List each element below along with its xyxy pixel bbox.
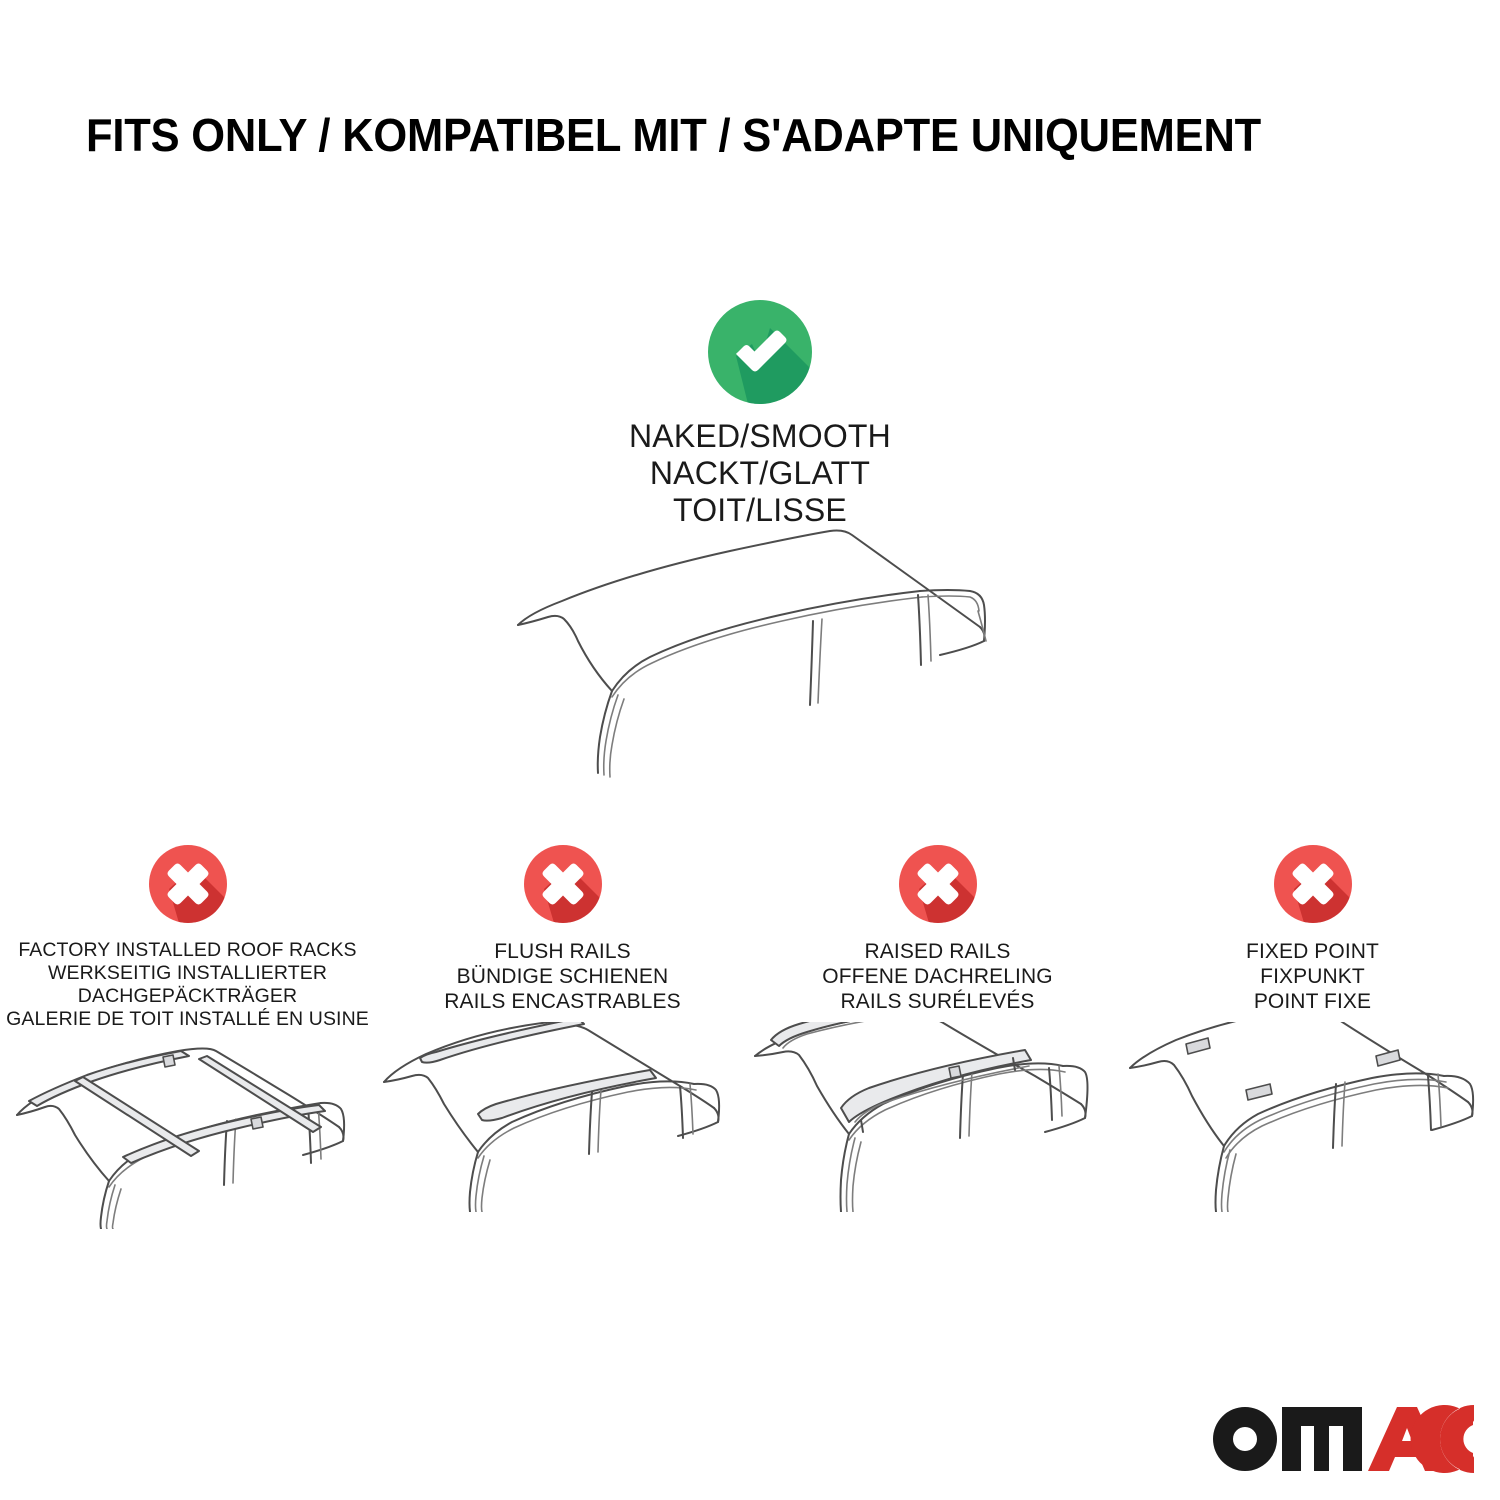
x-icon bbox=[1274, 845, 1352, 923]
label-line-1: FACTORY INSTALLED ROOF RACKS bbox=[6, 939, 369, 962]
factory-roof-rack-illustration bbox=[3, 1039, 373, 1229]
omac-letter-o bbox=[1213, 1407, 1277, 1471]
not-fits-label-raised-rails: RAISED RAILS OFFENE DACHRELING RAILS SUR… bbox=[822, 939, 1052, 1014]
check-badge-wrap bbox=[500, 300, 1020, 404]
label-line-2: OFFENE DACHRELING bbox=[822, 964, 1052, 989]
not-fits-row: FACTORY INSTALLED ROOF RACKS WERKSEITIG … bbox=[0, 845, 1500, 1229]
label-line-2: FIXPUNKT bbox=[1246, 964, 1379, 989]
omac-letter-m bbox=[1282, 1407, 1362, 1471]
not-fits-column-factory-roof-racks: FACTORY INSTALLED ROOF RACKS WERKSEITIG … bbox=[0, 845, 375, 1229]
not-fits-column-flush-rails: FLUSH RAILS BÜNDIGE SCHIENEN RAILS ENCAS… bbox=[375, 845, 750, 1229]
x-circle-badge-raised bbox=[899, 845, 977, 923]
check-icon bbox=[708, 300, 812, 404]
not-fits-label-factory-roof-racks: FACTORY INSTALLED ROOF RACKS WERKSEITIG … bbox=[6, 939, 369, 1031]
flush-rails-illustration bbox=[378, 1022, 748, 1212]
label-line-2: WERKSEITIG INSTALLIERTER bbox=[6, 962, 369, 985]
label-line-3: DACHGEPÄCKTRÄGER bbox=[6, 985, 369, 1008]
not-fits-label-fixed-point: FIXED POINT FIXPUNKT POINT FIXE bbox=[1246, 939, 1379, 1014]
fits-label-line-2: NACKT/GLATT bbox=[500, 455, 1020, 492]
x-icon bbox=[899, 845, 977, 923]
label-line-3: RAILS ENCASTRABLES bbox=[444, 989, 680, 1014]
x-circle-badge-factory bbox=[149, 845, 227, 923]
fixed-point-illustration bbox=[1128, 1022, 1498, 1212]
label-line-2: BÜNDIGE SCHIENEN bbox=[444, 964, 680, 989]
fits-label: NAKED/SMOOTH NACKT/GLATT TOIT/LISSE bbox=[500, 418, 1020, 529]
not-fits-column-fixed-point: FIXED POINT FIXPUNKT POINT FIXE bbox=[1125, 845, 1500, 1229]
label-line-4: GALERIE DE TOIT INSTALLÉ EN USINE bbox=[6, 1008, 369, 1031]
label-line-1: FLUSH RAILS bbox=[444, 939, 680, 964]
x-icon bbox=[149, 845, 227, 923]
omac-logo bbox=[1212, 1405, 1474, 1473]
raised-rails-illustration bbox=[753, 1022, 1123, 1212]
naked-smooth-roof-illustration bbox=[500, 515, 1020, 805]
x-circle-badge-fixed-point bbox=[1274, 845, 1352, 923]
fits-section: NAKED/SMOOTH NACKT/GLATT TOIT/LISSE bbox=[500, 300, 1020, 529]
x-circle-badge-flush bbox=[524, 845, 602, 923]
x-icon bbox=[524, 845, 602, 923]
page-title: FITS ONLY / KOMPATIBEL MIT / S'ADAPTE UN… bbox=[86, 108, 1261, 162]
fits-label-line-1: NAKED/SMOOTH bbox=[500, 418, 1020, 455]
not-fits-label-flush-rails: FLUSH RAILS BÜNDIGE SCHIENEN RAILS ENCAS… bbox=[444, 939, 680, 1014]
label-line-3: RAILS SURÉLEVÉS bbox=[822, 989, 1052, 1014]
label-line-3: POINT FIXE bbox=[1246, 989, 1379, 1014]
check-circle-badge bbox=[708, 300, 812, 404]
label-line-1: RAISED RAILS bbox=[822, 939, 1052, 964]
label-line-1: FIXED POINT bbox=[1246, 939, 1379, 964]
not-fits-column-raised-rails: RAISED RAILS OFFENE DACHRELING RAILS SUR… bbox=[750, 845, 1125, 1229]
